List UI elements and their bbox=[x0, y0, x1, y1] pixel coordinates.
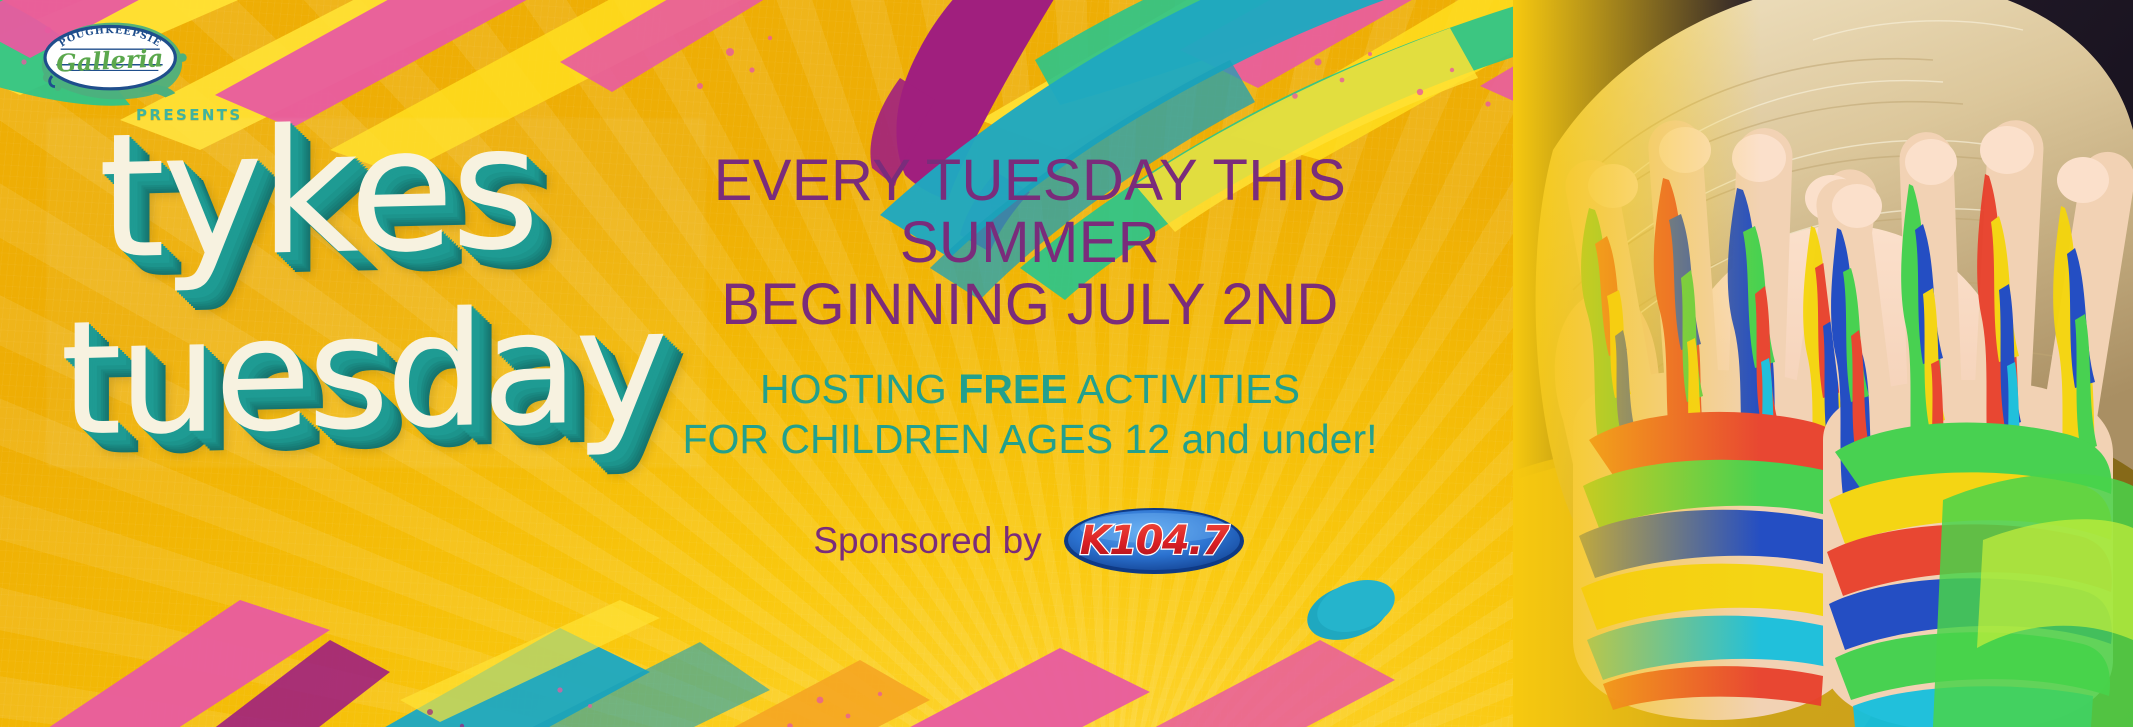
event-title-line1: tykes bbox=[98, 114, 664, 268]
child-with-painted-hands bbox=[1513, 0, 2133, 727]
sponsor-row: Sponsored by bbox=[650, 504, 1410, 578]
svg-text:Galleria: Galleria bbox=[55, 43, 164, 78]
subheadline-line1-post: ACTIVITIES bbox=[1068, 366, 1300, 412]
k104-7-radio-logo[interactable]: K104.7 bbox=[1062, 504, 1247, 578]
subheadline-line1: HOSTING FREE ACTIVITIES bbox=[760, 366, 1300, 412]
event-title: tykes tuesday bbox=[60, 120, 664, 439]
galleria-logo-icon: POUGHKEEPSIE Galleria bbox=[18, 18, 218, 103]
svg-text:K104.7: K104.7 bbox=[1079, 518, 1229, 564]
free-emphasis: FREE bbox=[958, 366, 1067, 412]
headline-line2: BEGINNING JULY 2ND bbox=[650, 274, 1410, 336]
headline: EVERY TUESDAY THIS SUMMER BEGINNING JULY… bbox=[650, 150, 1410, 336]
subheadline-line1-pre: HOSTING bbox=[760, 366, 958, 412]
event-title-line2: tuesday bbox=[60, 302, 664, 445]
child-photo-illustration bbox=[1513, 0, 2133, 727]
promo-copy: EVERY TUESDAY THIS SUMMER BEGINNING JULY… bbox=[650, 150, 1410, 578]
subheadline-line2: FOR CHILDREN AGES 12 and under! bbox=[650, 414, 1410, 464]
tykes-tuesday-banner: POUGHKEEPSIE Galleria PRESENTS tykes tue… bbox=[0, 0, 2133, 727]
sponsored-by-label: Sponsored by bbox=[813, 520, 1041, 562]
k104-7-logo-icon: K104.7 bbox=[1062, 504, 1247, 578]
headline-line1: EVERY TUESDAY THIS SUMMER bbox=[714, 148, 1347, 275]
subheadline: HOSTING FREE ACTIVITIES FOR CHILDREN AGE… bbox=[650, 364, 1410, 464]
